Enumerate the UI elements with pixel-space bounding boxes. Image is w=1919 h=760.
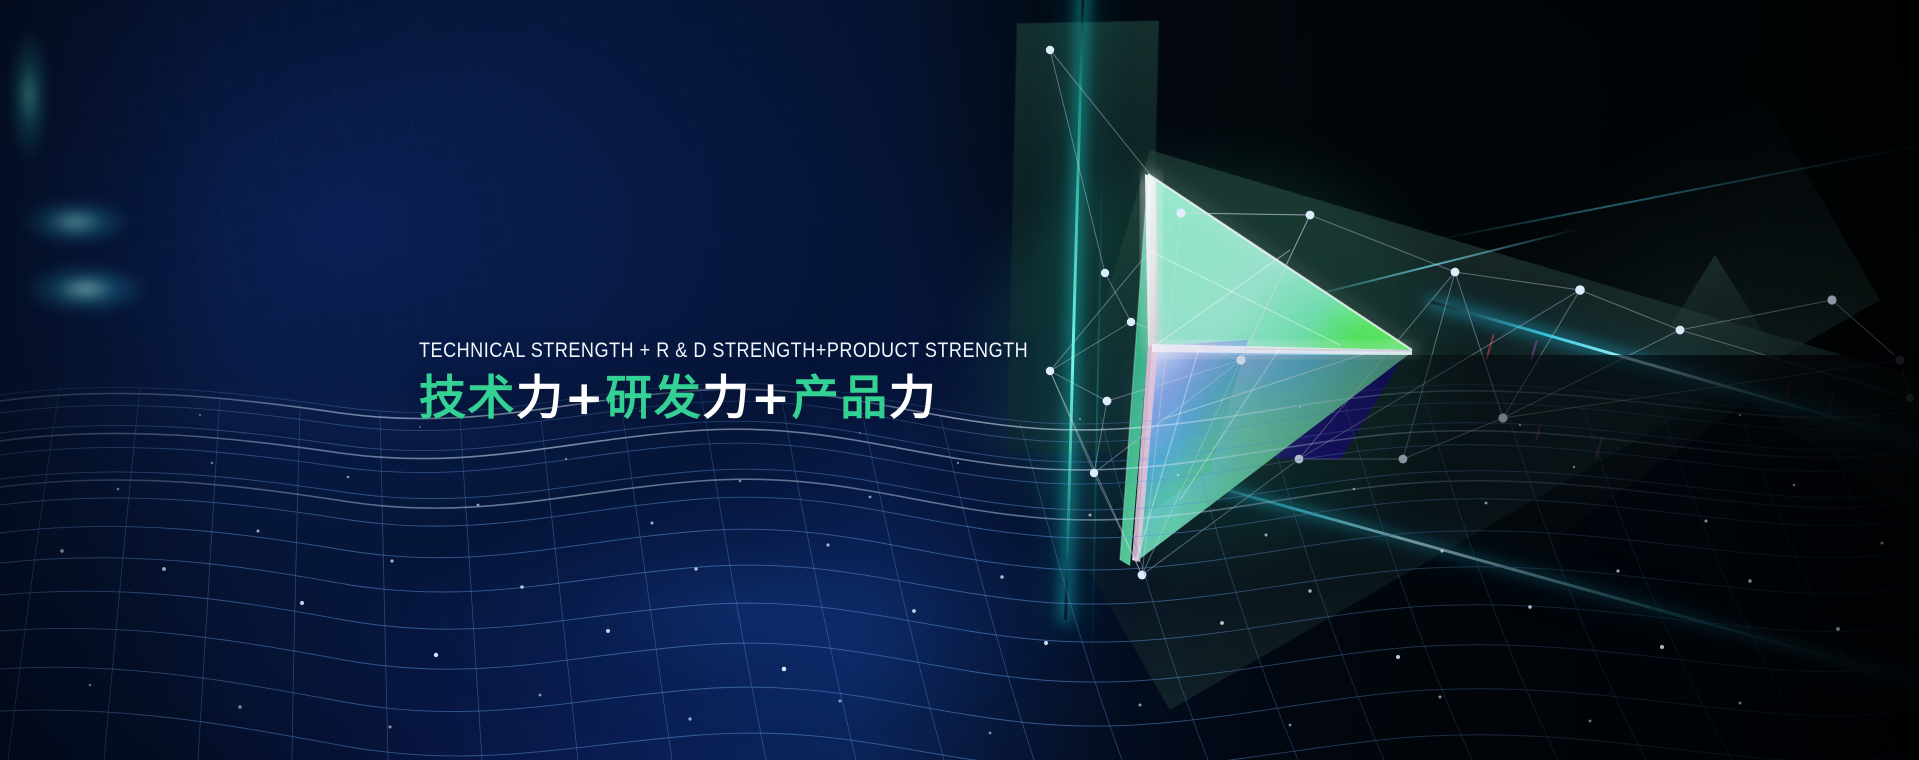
headline-segment-4: 力 xyxy=(702,371,751,426)
headline-segment-7: 力 xyxy=(889,371,938,426)
hero-banner: TECHNICAL STRENGTH + R & D STRENGTH+PROD… xyxy=(0,0,1919,760)
hero-text-block: TECHNICAL STRENGTH + R & D STRENGTH+PROD… xyxy=(419,340,1144,424)
headline-segment-5: + xyxy=(751,371,792,426)
headline-segment-6: 产品 xyxy=(792,371,889,426)
headline-segment-2: + xyxy=(565,371,606,426)
headline: 技术力+研发力+产品力 xyxy=(419,374,1144,425)
headline-segment-0: 技术 xyxy=(419,371,516,426)
headline-segment-3: 研发 xyxy=(605,371,702,426)
headline-segment-1: 力 xyxy=(516,371,565,426)
english-tagline: TECHNICAL STRENGTH + R & D STRENGTH+PROD… xyxy=(419,340,1028,362)
